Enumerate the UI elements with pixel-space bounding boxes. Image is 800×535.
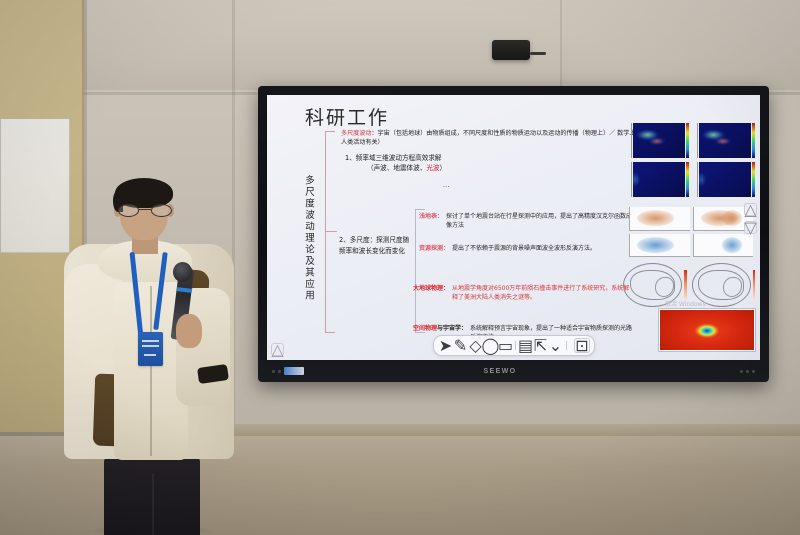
- ellipsis-vertical: ⋮: [443, 183, 448, 190]
- section-1-sub-suffix: ）: [440, 164, 447, 172]
- section-1: 1、频率域三维波动方程高效求解 （声波、地震体波、光波）: [345, 153, 565, 173]
- slide-title: 科研工作: [305, 103, 389, 130]
- presenter-glasses: [118, 204, 172, 217]
- cursor-tool-icon[interactable]: ➤: [438, 339, 453, 353]
- slide-intro-paragraph: 多尺度波动：宇宙（包括地球）由物质组成，不同尺度和性质的物质运动以及运动的传播（…: [341, 129, 671, 147]
- branch-1-tag: 浅地表：: [419, 213, 443, 222]
- pen-tool-icon[interactable]: ✎: [453, 339, 468, 353]
- scroll-up-button[interactable]: △: [744, 203, 757, 216]
- display-bezel: SEEWO: [258, 360, 769, 382]
- ceiling-camera-icon: [492, 40, 530, 60]
- section-1-heading: 频率域三维波动方程高效求解: [356, 154, 442, 162]
- presenter-hand: [176, 314, 202, 348]
- section-1-sub-prefix: （声波、地震体波、: [367, 164, 426, 172]
- outline-bracket-tick: [325, 231, 337, 232]
- intro-keyword: 多尺度波动: [341, 130, 371, 137]
- slide-vertical-label: 多尺度波动理论及其应用: [301, 175, 315, 302]
- branch-shallow-surface: 浅地表： 探讨了单个地震台站在行星探测中的应用，提出了高精度汉克尔函数成像方法: [419, 213, 634, 230]
- interactive-display[interactable]: 科研工作 多尺度波动：宇宙（包括地球）由物质组成，不同尺度和性质的物质运动以及运…: [258, 86, 769, 382]
- figure-spectrogram-panels: [627, 123, 755, 197]
- presentation-slide: 科研工作 多尺度波动：宇宙（包括地球）由物质组成，不同尺度和性质的物质运动以及运…: [267, 95, 760, 360]
- screen-tool-icon[interactable]: ▭: [498, 339, 513, 353]
- branch-4-tag: 空间物理与宇宙学：: [413, 325, 467, 334]
- section-2-heading: 多尺度：: [350, 236, 376, 244]
- home-button[interactable]: △: [271, 343, 284, 356]
- section-2-number: 2、: [339, 236, 350, 244]
- outline-bracket: [325, 131, 335, 333]
- figure-seismogram-panels: [629, 207, 753, 257]
- branch-2-body: 提出了不依赖于震源的背景噪声面波全波形反演方法。: [452, 245, 596, 254]
- chevron-down-icon[interactable]: ⌄: [548, 339, 563, 353]
- bezel-indicators-right: [740, 370, 755, 373]
- display-brand-logo: SEEWO: [483, 368, 516, 375]
- branch-3-tag: 大地球物理：: [413, 285, 449, 294]
- section-2: 2、多尺度：探测尺度随频率和波长变化而变化: [339, 235, 413, 256]
- energy-label-sticker: [284, 367, 304, 375]
- upper-wall: [0, 0, 800, 96]
- wall-seam: [560, 0, 562, 96]
- presenter-leg-split: [152, 474, 154, 535]
- room-scene: 安全出口 科研工作 多尺度波动：宇宙（包括地球）由物质组成，不同尺度和性质的物质…: [0, 0, 800, 535]
- toolbar-divider: [515, 341, 516, 350]
- branch-1-body: 探讨了单个地震台站在行星探测中的应用，提出了高精度汉克尔函数成像方法: [446, 213, 634, 230]
- branch-3-body: 从地震学角度对6500万年前陨石撞击事件进行了系统研究，系统解释了美洲大陆人类消…: [452, 285, 633, 302]
- branch-resource-exploration: 资源探测： 提出了不依赖于震源的背景噪声面波全波形反演方法。: [419, 245, 634, 254]
- magnifier-tool-icon[interactable]: ◯: [483, 339, 498, 353]
- bezel-indicators: [272, 367, 304, 375]
- annotation-toolbar[interactable]: ➤ ✎ ◇ ◯ ▭ ▤ ⇱ ⌄ ⊡: [433, 335, 595, 356]
- figure-thermal-heatmap: [659, 309, 755, 351]
- name-badge: [138, 332, 163, 366]
- presenter: [58, 178, 238, 535]
- section-1-sub-red: 光波: [426, 164, 439, 172]
- present-button[interactable]: ⊡: [574, 338, 590, 353]
- slide-side-controls[interactable]: △ ▽: [744, 203, 757, 234]
- section-1-sub: （声波、地震体波、光波）: [345, 163, 565, 173]
- toolbar-divider: [566, 341, 567, 350]
- branch-geophysics: 大地球物理： 从地震学角度对6500万年前陨石撞击事件进行了系统研究，系统解释了…: [413, 285, 633, 302]
- section-1-number: 1、: [345, 154, 356, 162]
- scroll-down-button[interactable]: ▽: [744, 221, 757, 234]
- list-tool-icon[interactable]: ▤: [518, 339, 533, 353]
- jacket-zipper: [150, 286, 152, 456]
- watermark-line-1: 激活 Windows: [665, 301, 747, 309]
- branch-2-tag: 资源探测：: [419, 245, 449, 254]
- intro-text: ：宇宙（包括地球）由物质组成，不同尺度和性质的物质运动以及运动的传播（物理上）／…: [341, 130, 666, 146]
- share-tool-icon[interactable]: ⇱: [533, 339, 548, 353]
